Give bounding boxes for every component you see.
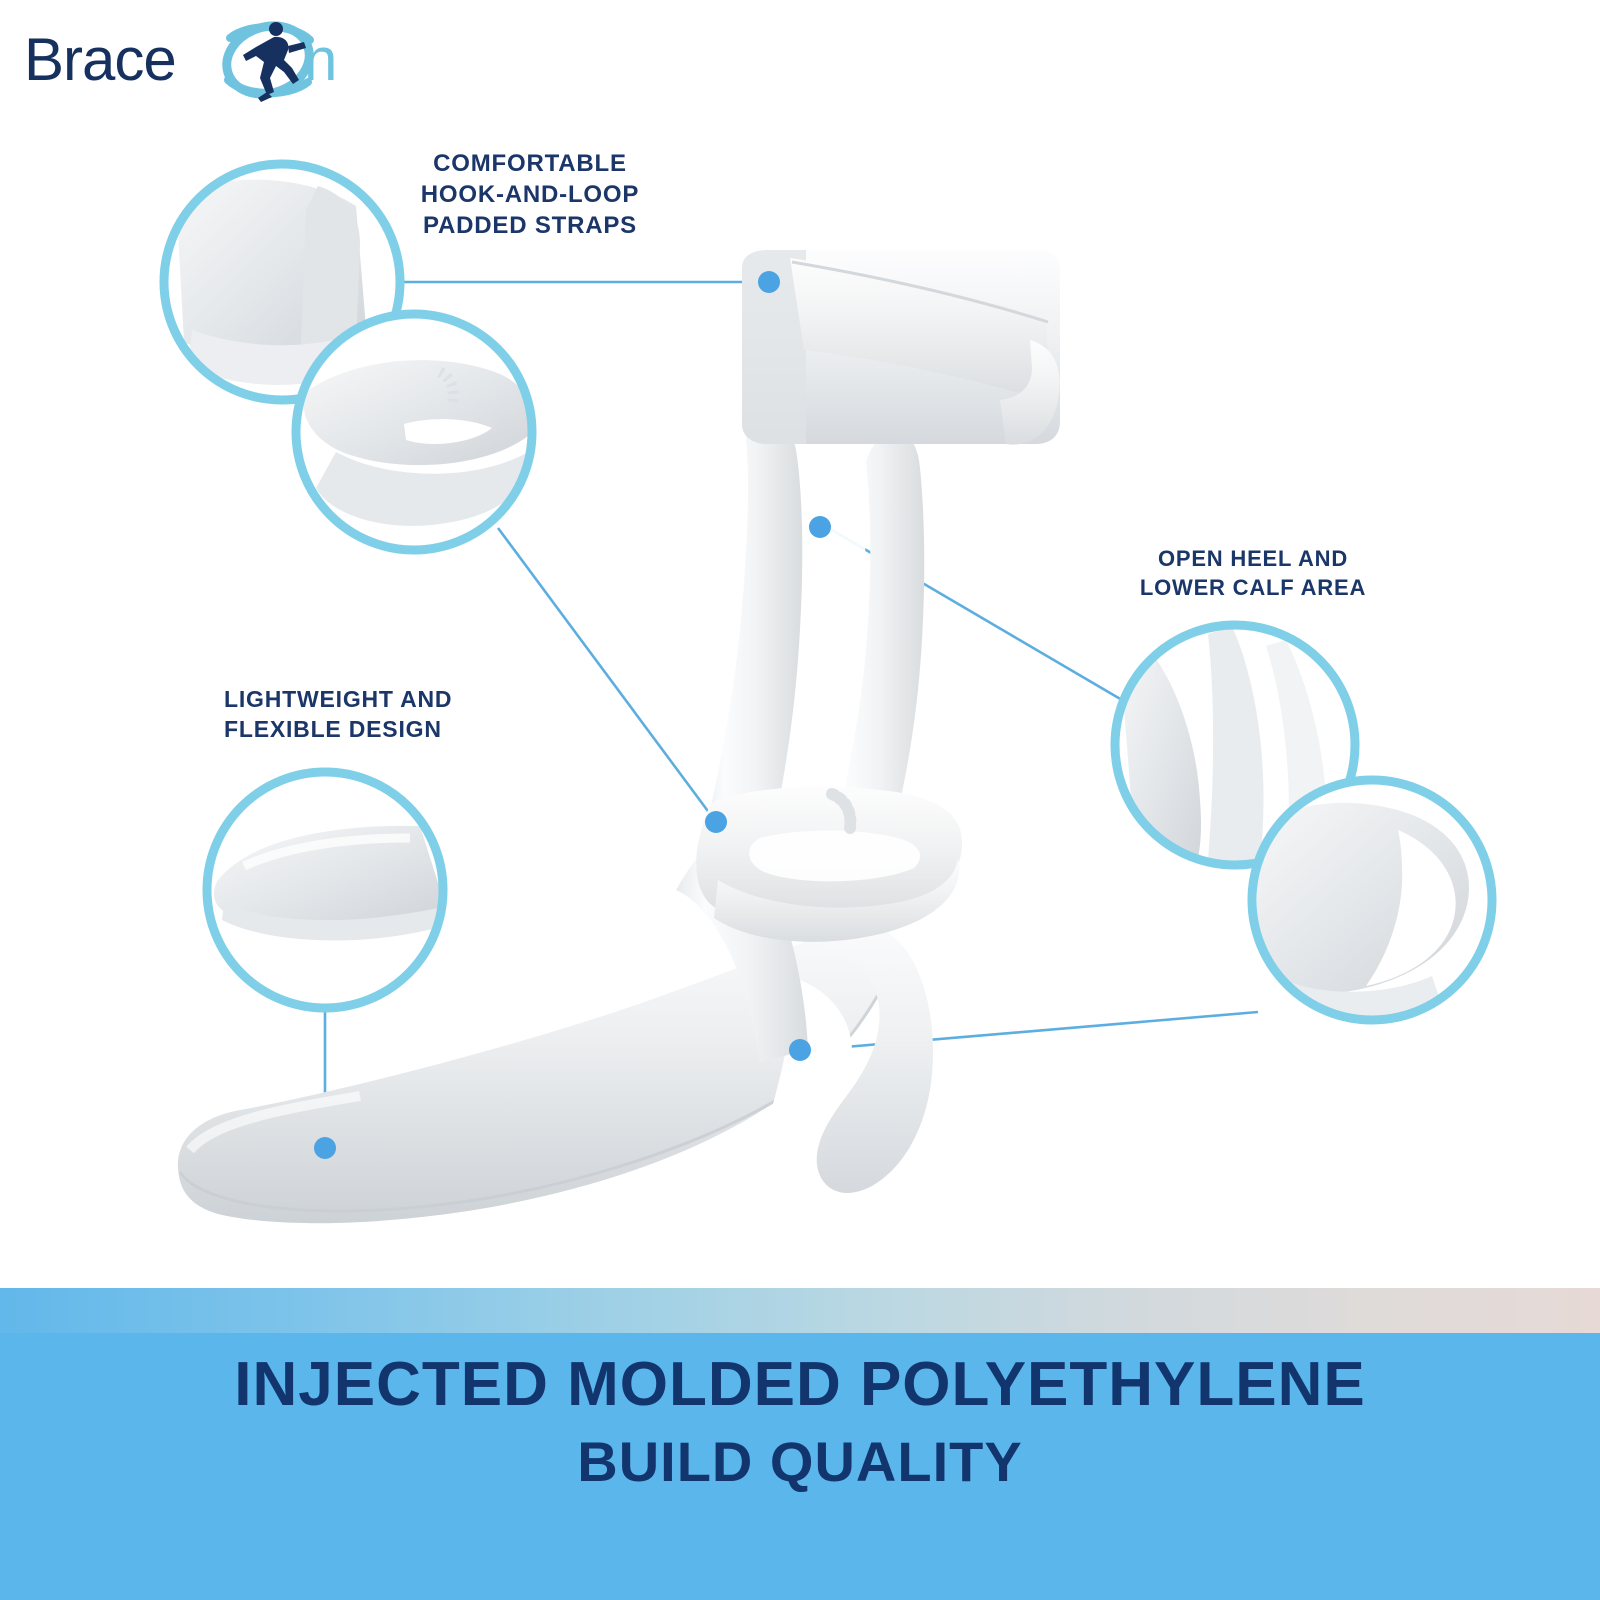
callout-label-comfortable-straps: COMFORTABLE HOOK-AND-LOOP PADDED STRAPS [390,148,670,242]
bottom-banner: INJECTED MOLDED POLYETHYLENE BUILD QUALI… [0,1288,1600,1600]
callout-circle-strap-detail-b [296,314,533,550]
connector-straps-ankle [498,528,716,822]
banner-gradient-strip [0,1288,1600,1333]
anchor-dot-toe[interactable] [314,1137,336,1159]
brace-ankle-strap-inner [749,831,920,882]
banner-text-block: INJECTED MOLDED POLYETHYLENE BUILD QUALI… [0,1348,1600,1495]
callout-circle-openheel-detail-b [1250,778,1494,1030]
callout-circle-lightweight-detail [207,772,446,1008]
anchor-dot-calf-strap[interactable] [758,271,780,293]
banner-headline: INJECTED MOLDED POLYETHYLENE [0,1348,1600,1421]
infographic-canvas: Brace n [0,0,1600,1600]
anchor-dot-ankle-strap[interactable] [705,811,727,833]
anchor-dot-strut[interactable] [809,516,831,538]
banner-subheadline: BUILD QUALITY [0,1429,1600,1495]
callout-label-lightweight: LIGHTWEIGHT AND FLEXIBLE DESIGN [224,685,554,745]
anchor-dot-heel[interactable] [789,1039,811,1061]
callout-label-open-heel: OPEN HEEL AND LOWER CALF AREA [1108,545,1398,602]
